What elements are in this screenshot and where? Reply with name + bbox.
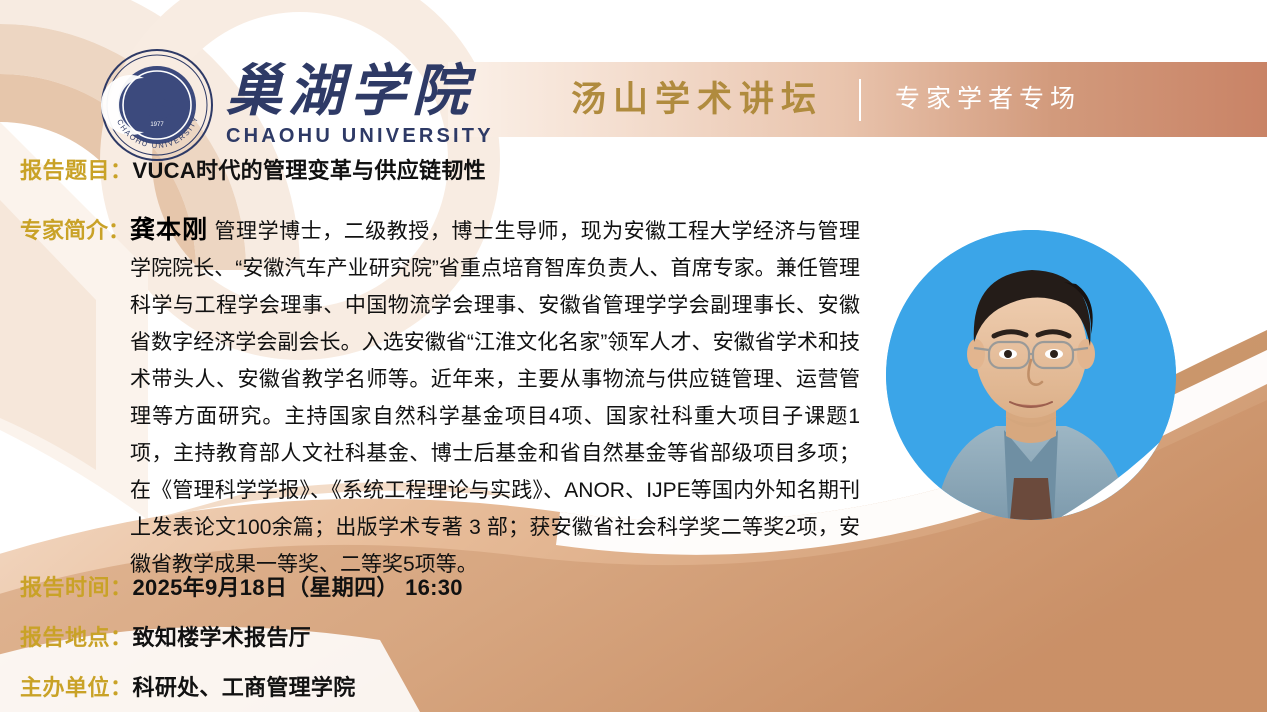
report-place-value: 致知楼学术报告厅 [133,622,311,654]
speaker-portrait-image [886,230,1176,520]
report-time-label: 报告时间： [20,572,133,604]
chaohu-university-seal-icon: 1977 CHAOHU UNIVERSITY [100,48,214,162]
header-banner: 汤山学术讲坛 专家学者专场 [448,62,1267,137]
report-host-field: 主办单位： 科研处、工商管理学院 [20,672,356,704]
university-logo: 1977 CHAOHU UNIVERSITY 巢湖学院 CHAOHU UNIVE… [100,48,494,162]
seal-year: 1977 [150,122,164,128]
lecture-poster: 汤山学术讲坛 专家学者专场 1977 CHAOHU UNIVERSITY [0,0,1267,712]
report-host-value: 科研处、工商管理学院 [133,672,356,704]
speaker-bio-text: 管理学博士，二级教授，博士生导师，现为安徽工程大学经济与管理学院院长、“安徽汽车… [130,220,860,576]
report-host-label: 主办单位： [20,672,133,704]
report-place-label: 报告地点： [20,622,133,654]
logo-name-en: CHAOHU UNIVERSITY [226,124,494,148]
speaker-name: 龚本刚 [130,216,208,244]
logo-name-cn: 巢湖学院 [226,62,494,121]
report-time-value: 2025年9月18日（星期四） 16:30 [133,572,463,604]
speaker-portrait [886,230,1176,520]
speaker-bio-field: 专家简介： 龚本刚 管理学博士，二级教授，博士生导师，现为安徽工程大学经济与管理… [20,212,890,583]
banner-subtitle: 专家学者专场 [895,87,1081,112]
report-place-field: 报告地点： 致知楼学术报告厅 [20,622,311,654]
banner-title: 汤山学术讲坛 [571,82,823,117]
logo-wordmark: 巢湖学院 CHAOHU UNIVERSITY [226,62,494,148]
speaker-bio-body: 龚本刚 管理学博士，二级教授，博士生导师，现为安徽工程大学经济与管理学院院长、“… [130,212,860,583]
speaker-bio-label: 专家简介： [20,212,130,249]
banner-divider [859,79,861,121]
report-time-field: 报告时间： 2025年9月18日（星期四） 16:30 [20,572,463,604]
